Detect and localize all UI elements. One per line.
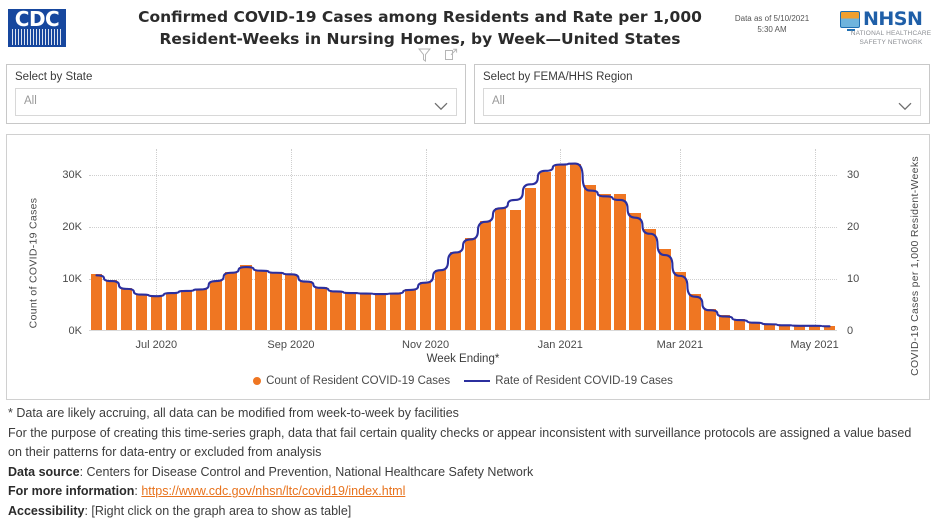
filter-label-region: Select by FEMA/HHS Region xyxy=(483,69,921,85)
region-dropdown[interactable]: All xyxy=(483,88,921,116)
footnote-accessibility: Accessibility: [Right click on the graph… xyxy=(8,502,928,522)
legend-line-icon xyxy=(464,380,490,382)
footnotes: * Data are likely accruing, all data can… xyxy=(8,404,928,521)
page-title-line-1: Confirmed COVID-19 Cases among Residents… xyxy=(120,6,720,28)
region-dropdown-value: All xyxy=(492,95,505,107)
page-title-line-2: Resident-Weeks in Nursing Homes, by Week… xyxy=(120,28,720,50)
footnote-more-information: For more information: https://www.cdc.go… xyxy=(8,482,928,502)
state-dropdown-value: All xyxy=(24,95,37,107)
line-series xyxy=(89,149,837,331)
legend-item-rate[interactable]: Rate of Resident COVID-19 Cases xyxy=(464,375,673,387)
state-dropdown[interactable]: All xyxy=(15,88,457,116)
nhsn-logo-subtitle: NATIONAL HEALTHCARE SAFETY NETWORK xyxy=(850,30,932,47)
data-as-of-date: Data as of 5/10/2021 xyxy=(726,13,818,24)
chevron-down-icon xyxy=(898,98,912,107)
x-axis-label: Week Ending* xyxy=(89,353,837,365)
legend-label-count: Count of Resident COVID-19 Cases xyxy=(266,375,450,387)
footnote-methods: For the purpose of creating this time-se… xyxy=(8,424,928,463)
y-axis-label-left: Count of COVID-19 Cases xyxy=(25,173,41,353)
y-tick-label-left: 20K xyxy=(62,221,82,233)
y-tick-label-left: 10K xyxy=(62,273,82,285)
dashboard-header: CDC Confirmed COVID-19 Cases among Resid… xyxy=(0,0,936,62)
legend-label-rate: Rate of Resident COVID-19 Cases xyxy=(495,375,673,387)
nhsn-logo-abbr: NHSN xyxy=(863,8,922,30)
x-tick-label: Jul 2020 xyxy=(136,339,178,351)
more-info-label: For more information xyxy=(8,484,134,498)
cdc-nhsn-link[interactable]: https://www.cdc.gov/nhsn/ltc/covid19/ind… xyxy=(141,484,405,498)
x-tick-label: Sep 2020 xyxy=(267,339,314,351)
nhsn-monitor-icon xyxy=(840,11,860,28)
data-as-of-time: 5:30 AM xyxy=(726,24,818,35)
rate-line xyxy=(96,164,829,327)
filter-bar: Select by State All Select by FEMA/HHS R… xyxy=(0,64,936,126)
filter-panel-region: Select by FEMA/HHS Region All xyxy=(474,64,930,124)
x-tick-label: May 2021 xyxy=(790,339,838,351)
y-tick-label-right: 10 xyxy=(847,273,859,285)
x-axis-line xyxy=(89,330,837,331)
chart-panel[interactable]: Count of COVID-19 Cases COVID-19 Cases p… xyxy=(6,134,930,400)
cdc-logo: CDC xyxy=(8,9,66,47)
cdc-logo-text: CDC xyxy=(8,9,66,31)
accessibility-value: : [Right click on the graph area to show… xyxy=(84,504,351,518)
footnote-accruing: * Data are likely accruing, all data can… xyxy=(8,404,928,424)
filter-icon[interactable] xyxy=(418,48,431,62)
legend-item-count[interactable]: Count of Resident COVID-19 Cases xyxy=(253,375,450,387)
data-as-of: Data as of 5/10/2021 5:30 AM xyxy=(726,13,818,35)
filter-label-state: Select by State xyxy=(15,69,457,85)
y-tick-label-right: 30 xyxy=(847,169,859,181)
y-axis-label-right-text: COVID-19 Cases per 1,000 Resident-Weeks xyxy=(909,156,921,376)
data-source-label: Data source xyxy=(8,465,80,479)
export-icon[interactable] xyxy=(444,48,458,62)
chevron-down-icon xyxy=(434,98,448,107)
y-tick-label-right: 20 xyxy=(847,221,859,233)
y-axis-label-left-text: Count of COVID-19 Cases xyxy=(27,198,39,329)
plot-area[interactable]: 0K10K20K30K 0102030 Jul 2020Sep 2020Nov … xyxy=(89,149,837,331)
x-tick-label: Nov 2020 xyxy=(402,339,449,351)
legend-dot-icon xyxy=(253,377,261,385)
y-tick-label-left: 0K xyxy=(69,325,82,337)
y-tick-label-left: 30K xyxy=(62,169,82,181)
x-tick-label: Jan 2021 xyxy=(538,339,583,351)
accessibility-label: Accessibility xyxy=(8,504,84,518)
y-tick-label-right: 0 xyxy=(847,325,853,337)
nhsn-logo: NHSN NATIONAL HEALTHCARE SAFETY NETWORK xyxy=(840,8,932,54)
cdc-logo-stripes xyxy=(12,29,62,45)
filter-panel-state: Select by State All xyxy=(6,64,466,124)
data-source-value: : Centers for Disease Control and Preven… xyxy=(80,465,534,479)
footnote-data-source: Data source: Centers for Disease Control… xyxy=(8,463,928,483)
y-axis-label-right: COVID-19 Cases per 1,000 Resident-Weeks xyxy=(907,141,923,391)
header-toolbar xyxy=(410,48,470,64)
page-title: Confirmed COVID-19 Cases among Residents… xyxy=(120,6,720,50)
chart-legend: Count of Resident COVID-19 Cases Rate of… xyxy=(89,375,837,387)
x-tick-label: Mar 2021 xyxy=(657,339,703,351)
